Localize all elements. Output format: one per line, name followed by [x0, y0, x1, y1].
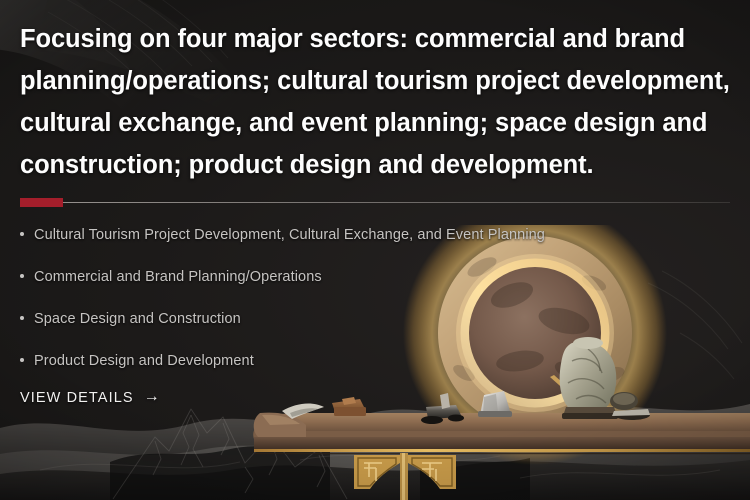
gold-bracket-right: [408, 455, 456, 489]
page-title: Focusing on four major sectors: commerci…: [20, 18, 732, 186]
accent-bar: [20, 198, 63, 207]
horizontal-rule: [63, 202, 730, 203]
arrow-right-icon: →: [144, 389, 161, 405]
list-item[interactable]: Cultural Tourism Project Development, Cu…: [20, 224, 545, 266]
divider: [20, 201, 730, 204]
list-item[interactable]: Commercial and Brand Planning/Operations: [20, 266, 545, 308]
gold-bracket-left: [354, 455, 400, 489]
promo-panel: Focusing on four major sectors: commerci…: [0, 0, 750, 500]
bullet-dot-icon: [20, 274, 24, 278]
bullet-dot-icon: [20, 232, 24, 236]
view-details-label: VIEW DETAILS: [20, 390, 134, 406]
list-item-label: Commercial and Brand Planning/Operations: [34, 269, 322, 285]
bullet-dot-icon: [20, 316, 24, 320]
list-item[interactable]: Product Design and Development: [20, 350, 545, 392]
sector-list: Cultural Tourism Project Development, Cu…: [20, 224, 545, 392]
list-item[interactable]: Space Design and Construction: [20, 308, 545, 350]
bullet-dot-icon: [20, 358, 24, 362]
list-item-label: Product Design and Development: [34, 353, 254, 369]
view-details-link[interactable]: VIEW DETAILS →: [20, 390, 161, 406]
list-item-label: Cultural Tourism Project Development, Cu…: [34, 227, 545, 243]
list-item-label: Space Design and Construction: [34, 311, 241, 327]
